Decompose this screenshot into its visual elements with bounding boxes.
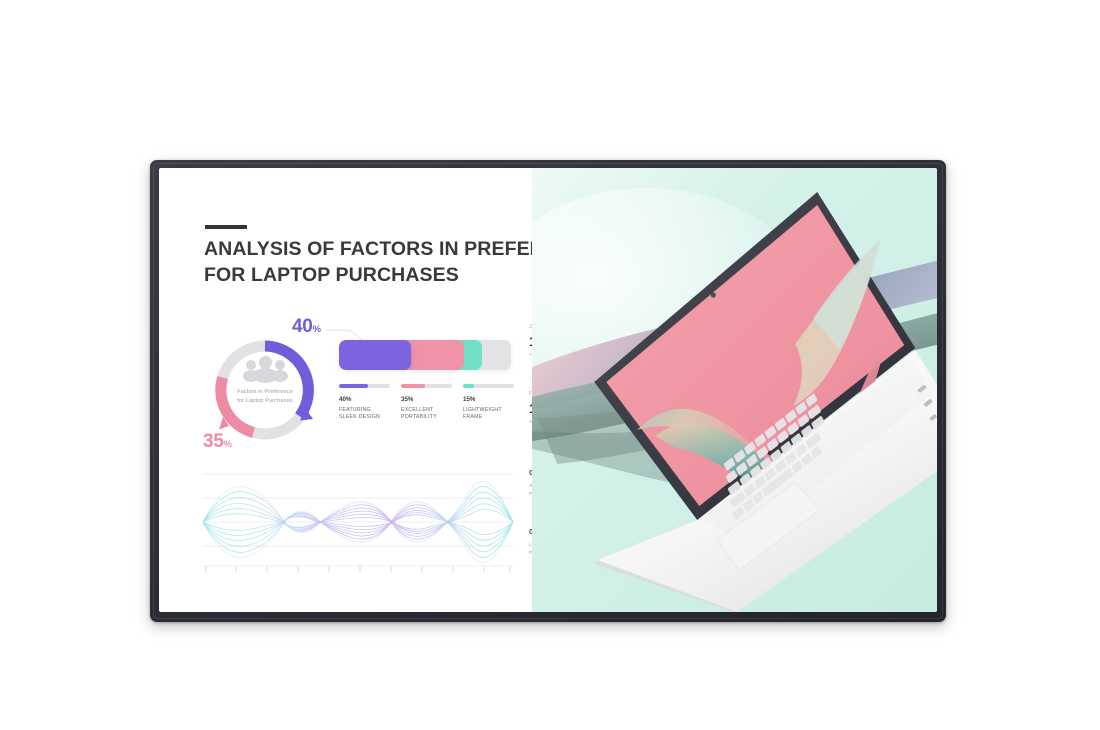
monitor-device: ANALYSIS OF FACTORS IN PREFERENCE FOR LA… <box>150 160 946 622</box>
stacked-bar-chart <box>339 340 511 370</box>
donut-label-secondary-unit: % <box>224 439 232 450</box>
screenshot-canvas: ANALYSIS OF FACTORS IN PREFERENCE FOR LA… <box>0 0 1100 730</box>
legend-track <box>463 384 514 388</box>
laptop-product-photo <box>532 168 937 612</box>
donut-label-primary-unit: % <box>313 324 321 335</box>
donut-label-secondary: 35% <box>203 431 232 453</box>
legend-track <box>401 384 452 388</box>
legend-caption: FEATURING SLEEK DESIGN <box>339 407 390 423</box>
legend-item-design: 40% FEATURING SLEEK DESIGN <box>339 384 390 422</box>
donut-label-secondary-value: 35 <box>203 431 224 452</box>
donut-caption-line2: for Laptop Purchases <box>215 397 315 406</box>
legend-caption-line1: LIGHTWEIGHT <box>463 407 514 415</box>
donut-label-primary: 40% <box>292 316 321 338</box>
stacked-bar-segment-portability <box>404 340 464 370</box>
donut-caption: Factors in Preference for Laptop Purchas… <box>215 388 315 405</box>
people-icon <box>243 356 287 382</box>
donut-label-primary-value: 40 <box>292 316 313 337</box>
legend: 40% FEATURING SLEEK DESIGN 35% EXCELLENT <box>339 384 514 422</box>
legend-caption-line2: PORTABILITY <box>401 414 452 422</box>
donut-caption-line1: Factors in Preference <box>215 388 315 397</box>
legend-caption: EXCELLENT PORTABILITY <box>401 407 452 423</box>
stacked-bar-segment-other <box>482 340 497 370</box>
legend-percent: 15% <box>463 396 514 403</box>
monitor-screen: ANALYSIS OF FACTORS IN PREFERENCE FOR LA… <box>159 168 937 612</box>
legend-caption-line2: FRAME <box>463 414 514 422</box>
legend-fill <box>463 384 474 388</box>
legend-caption-line1: EXCELLENT <box>401 407 452 415</box>
legend-caption: LIGHTWEIGHT FRAME <box>463 407 514 423</box>
legend-fill <box>339 384 368 388</box>
legend-percent: 35% <box>401 396 452 403</box>
stacked-bar-segment-design <box>339 340 411 370</box>
waveform-chart <box>203 468 513 580</box>
legend-fill <box>401 384 425 388</box>
legend-caption-line2: SLEEK DESIGN <box>339 414 390 422</box>
legend-track <box>339 384 390 388</box>
legend-item-portability: 35% EXCELLENT PORTABILITY <box>401 384 452 422</box>
legend-item-lightweight: 15% LIGHTWEIGHT FRAME <box>463 384 514 422</box>
title-rule <box>205 225 247 229</box>
legend-percent: 40% <box>339 396 390 403</box>
legend-caption-line1: FEATURING <box>339 407 390 415</box>
